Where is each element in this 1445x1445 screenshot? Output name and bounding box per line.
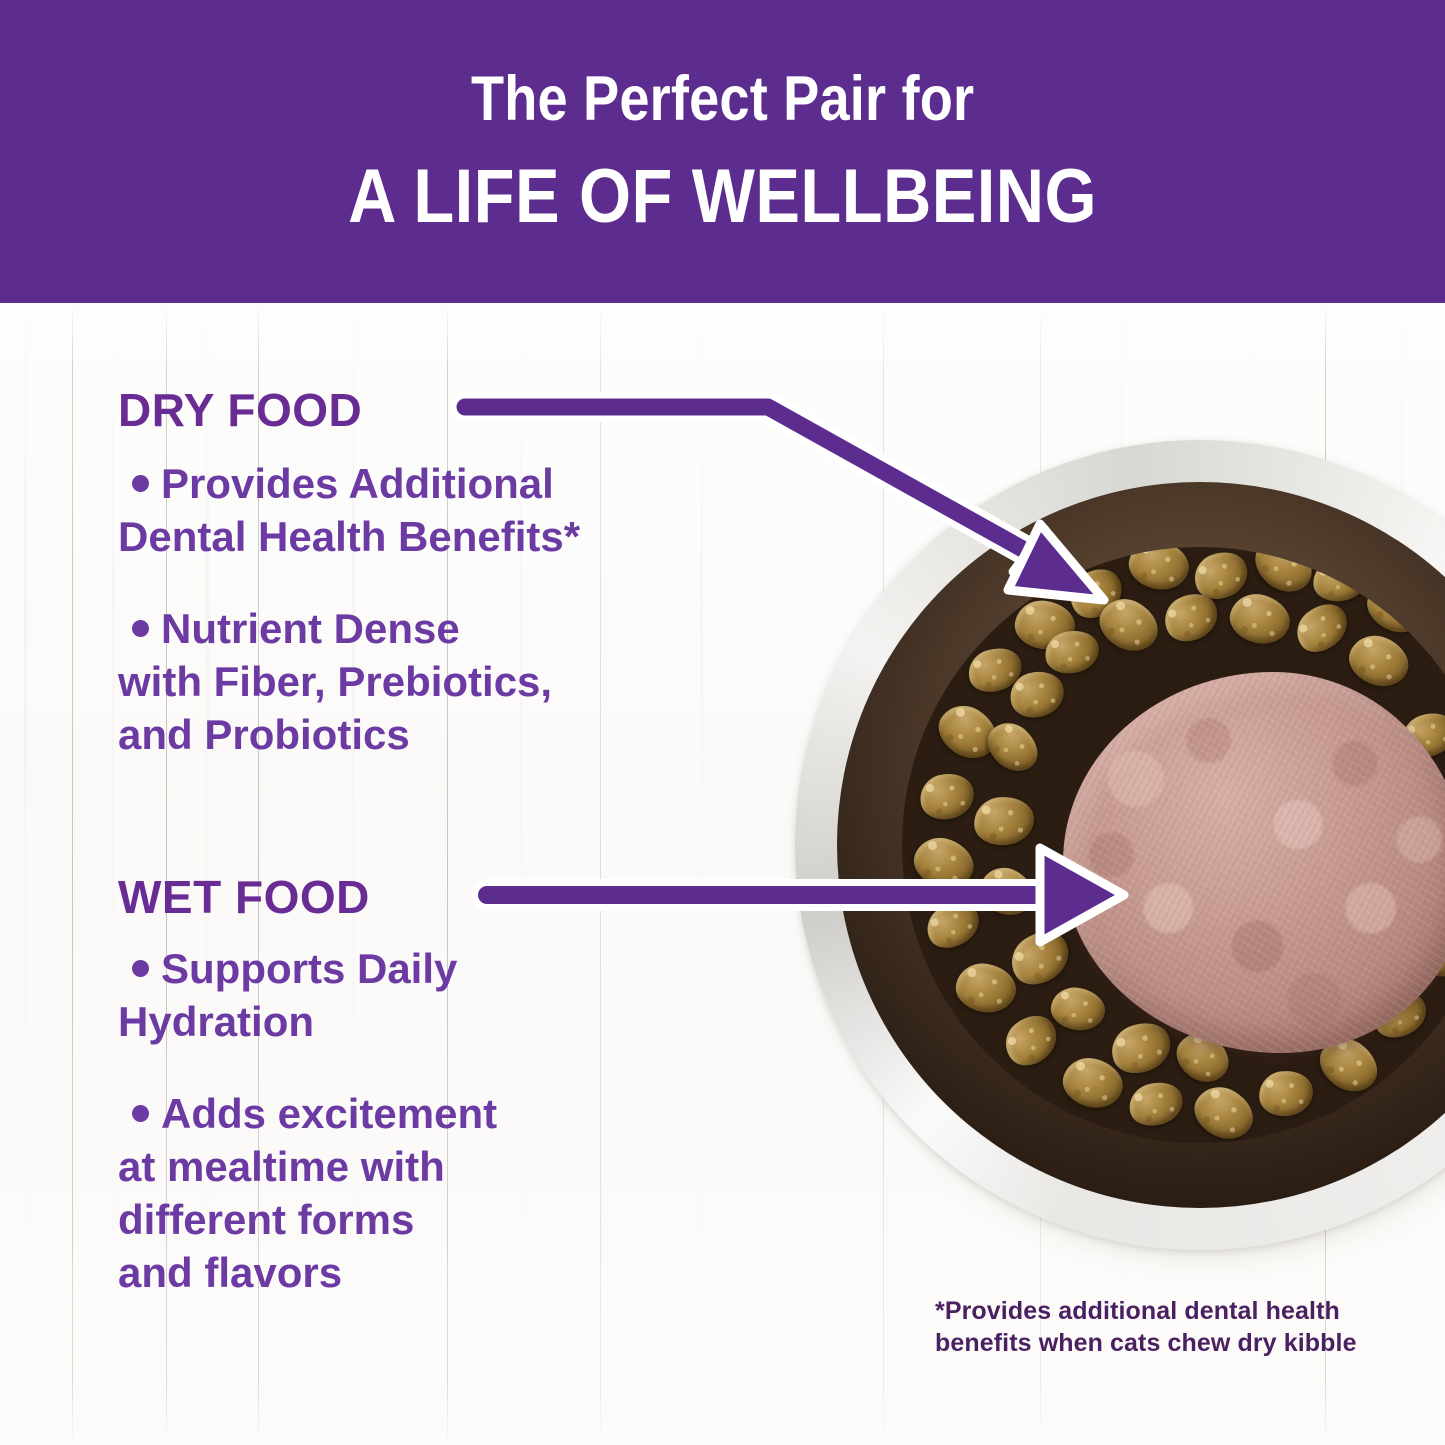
dry-food-bullet-1: Provides Additional Dental Health Benefi… [118, 458, 778, 564]
wet-food-bullet-2-line-3: different forms [118, 1196, 414, 1243]
footnote: *Provides additional dental health benef… [935, 1296, 1365, 1359]
dry-food-bullet-2-line-2: with Fiber, Prebiotics, [118, 658, 552, 705]
wet-food-bullet-1-line-1: Supports Daily [161, 945, 457, 992]
bowl-rim [795, 440, 1445, 1250]
wet-food-bullet-1-line-2: Hydration [118, 998, 314, 1045]
dry-food-bullet-2-line-1: Nutrient Dense [161, 605, 460, 652]
header-banner: The Perfect Pair for A LIFE OF WELLBEING [0, 0, 1445, 303]
footnote-line-1: *Provides additional dental health [935, 1297, 1340, 1325]
bullet-dot-icon [132, 1105, 149, 1122]
wet-food-bullet-1: Supports Daily Hydration [118, 943, 778, 1049]
dry-food-heading: DRY FOOD [118, 383, 362, 437]
wet-food-pate [1063, 672, 1445, 1053]
wet-food-heading: WET FOOD [118, 870, 370, 924]
bullet-dot-icon [132, 620, 149, 637]
header-title-line2: A LIFE OF WELLBEING [348, 159, 1097, 235]
wet-food-bullet-2-line-2: at mealtime with [118, 1143, 445, 1190]
dry-food-bullet-2: Nutrient Dense with Fiber, Prebiotics, a… [118, 603, 778, 762]
bullet-dot-icon [132, 475, 149, 492]
dry-food-bullet-2-line-3: and Probiotics [118, 711, 410, 758]
wet-food-bullet-2: Adds excitement at mealtime with differe… [118, 1088, 778, 1300]
footnote-line-2: benefits when cats chew dry kibble [935, 1329, 1357, 1357]
bowl-food-area [902, 547, 1445, 1142]
dry-food-bullet-1-line-2: Dental Health Benefits* [118, 513, 580, 560]
bullet-dot-icon [132, 960, 149, 977]
bowl-inner-wall [837, 482, 1445, 1208]
promo-graphic: The Perfect Pair for A LIFE OF WELLBEING [0, 0, 1445, 1445]
pet-food-bowl-image [795, 440, 1445, 1250]
dry-food-bullet-1-line-1: Provides Additional [161, 460, 554, 507]
header-title-line1: The Perfect Pair for [471, 68, 974, 131]
wet-food-bullet-2-line-4: and flavors [118, 1249, 342, 1296]
wet-food-bullet-2-line-1: Adds excitement [161, 1090, 497, 1137]
